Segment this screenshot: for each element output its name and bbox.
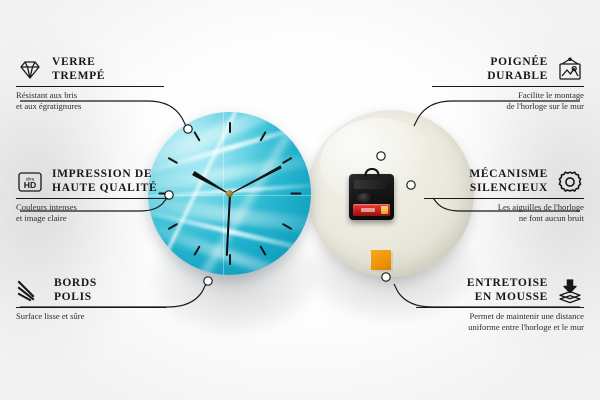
feature-header: ENTRETOISE EN MOUSSE (416, 277, 584, 304)
feature-header: BORDS POLIS (16, 277, 166, 304)
hanging-picture-frame-icon (556, 57, 584, 83)
wall-clock-front-face (148, 112, 311, 275)
ultra-hd-badge-icon: ultra HD (16, 170, 44, 194)
battery-positive-tip (381, 206, 388, 214)
feature-title: VERRE TREMPÉ (52, 56, 105, 83)
arrow-on-foam-pad-icon (556, 278, 584, 304)
movement-dial-detail (356, 193, 374, 203)
title-rule (16, 307, 166, 308)
infographic-canvas: VERRE TREMPÉ Résistant aux bris et aux é… (0, 0, 600, 400)
feature-description: Résistant aux bris et aux égratignures (16, 90, 164, 111)
title-rule (16, 86, 164, 87)
title-rule (16, 198, 168, 199)
quartz-movement (349, 174, 394, 220)
feature-header: VERRE TREMPÉ (16, 56, 164, 83)
feature-entretoise-en-mousse: ENTRETOISE EN MOUSSE Permet de maintenir… (416, 277, 584, 332)
feature-bords-polis: BORDS POLIS Surface lisse et sûre (16, 277, 166, 322)
feature-description: Les aiguilles de l'horloge ne font aucun… (424, 202, 584, 223)
feature-title: POIGNÉE DURABLE (487, 56, 548, 83)
aa-battery (353, 204, 390, 216)
feature-impression-haute-qualite: ultra HD IMPRESSION DE HAUTE QUALITÉ Cou… (16, 168, 168, 223)
movement-hanger-loop (364, 168, 379, 177)
movement-top-detail (354, 180, 386, 189)
diagonal-lines-icon (16, 279, 46, 303)
svg-text:HD: HD (24, 180, 36, 190)
feature-title: MÉCANISME SILENCIEUX (469, 168, 548, 195)
hour-marker (290, 193, 301, 195)
title-rule (432, 86, 584, 87)
feature-title: BORDS POLIS (54, 277, 97, 304)
diamond-icon (16, 58, 44, 82)
hands-center-cap (226, 190, 233, 197)
feature-header: MÉCANISME SILENCIEUX (424, 168, 584, 195)
title-rule (416, 307, 584, 308)
feature-header: ultra HD IMPRESSION DE HAUTE QUALITÉ (16, 168, 168, 195)
feature-title: IMPRESSION DE HAUTE QUALITÉ (52, 168, 157, 195)
foam-spacer (371, 250, 391, 270)
feature-poignee-durable: POIGNÉE DURABLE Facilite le montage de l… (432, 56, 584, 111)
feature-verre-trempe: VERRE TREMPÉ Résistant aux bris et aux é… (16, 56, 164, 111)
feature-title: ENTRETOISE EN MOUSSE (467, 277, 548, 304)
hour-marker (229, 254, 231, 265)
feature-header: POIGNÉE DURABLE (432, 56, 584, 83)
battery-label-stripe (361, 208, 375, 212)
title-rule (424, 198, 584, 199)
feature-description: Couleurs intenses et image claire (16, 202, 168, 223)
feature-description: Permet de maintenir une distance uniform… (416, 311, 584, 332)
feature-description: Facilite le montage de l'horloge sur le … (432, 90, 584, 111)
gear-icon (556, 169, 584, 195)
feature-mecanisme-silencieux: MÉCANISME SILENCIEUX Les aiguilles de l'… (424, 168, 584, 223)
hour-marker (229, 122, 231, 133)
feature-description: Surface lisse et sûre (16, 311, 166, 322)
